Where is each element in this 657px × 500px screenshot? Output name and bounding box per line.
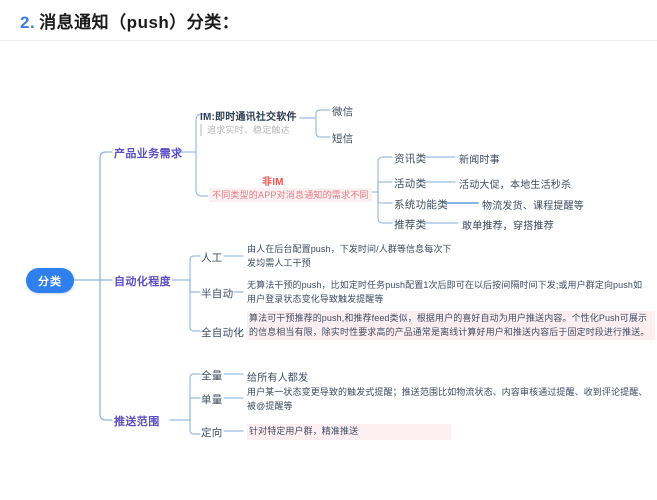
node-nonim-title[interactable]: 非IM xyxy=(262,173,284,188)
leaf-system-function-category[interactable]: 系统功能类 xyxy=(394,197,448,212)
leaf-semi-auto[interactable]: 半自动 xyxy=(201,286,233,301)
mindmap-canvas: 2.消息通知（push）分类： xyxy=(0,0,657,500)
node-im-note: 追求实时、稳定触达 xyxy=(200,124,290,136)
detail-full-auto: 算法可干预推荐的push,和推荐feed类似，根据用户的喜好自动为用户推送内容。… xyxy=(247,311,655,340)
root-node[interactable]: 分类 xyxy=(26,268,74,293)
leaf-activity-category[interactable]: 活动类 xyxy=(394,176,426,191)
leaf-targeted[interactable]: 定向 xyxy=(201,425,223,440)
leaf-full-auto[interactable]: 全自动化 xyxy=(201,325,244,340)
detail-recommend-category: 敢单推荐，穿搭推荐 xyxy=(462,217,554,232)
leaf-sms[interactable]: 短信 xyxy=(332,131,354,146)
detail-news-category: 新闻时事 xyxy=(459,151,500,166)
leaf-manual[interactable]: 人工 xyxy=(201,250,223,265)
branch-automation[interactable]: 自动化程度 xyxy=(114,273,171,289)
detail-manual: 由人在后台配置push，下发时间/人群等信息每次下发均需人工干预 xyxy=(247,243,457,270)
leaf-all-users[interactable]: 全量 xyxy=(201,368,223,383)
detail-single-user: 用户某一状态变更导致的触发式提醒；推送范围比如物流状态、内容审核通过提醒、收到评… xyxy=(247,386,651,413)
leaf-recommend-category[interactable]: 推荐类 xyxy=(394,217,426,232)
node-im-title[interactable]: IM:即时通讯社交软件 xyxy=(200,108,297,123)
node-nonim-note: 不同类型的APP对消息通知的需求不同 xyxy=(209,188,372,202)
leaf-news-category[interactable]: 资讯类 xyxy=(394,151,426,166)
detail-targeted: 针对特定用户群，精准推送 xyxy=(247,424,451,440)
leaf-wechat[interactable]: 微信 xyxy=(332,104,354,119)
detail-all-users: 给所有人都发 xyxy=(247,369,308,384)
detail-semi-auto: 无算法干预的push，比如定时任务push配置1次后即可在以后按间隔时间下发;或… xyxy=(247,279,651,306)
leaf-single-user[interactable]: 单量 xyxy=(201,392,223,407)
detail-system-function-category: 物流发货、课程提醒等 xyxy=(482,197,584,212)
detail-activity-category: 活动大促，本地生活秒杀 xyxy=(459,176,571,191)
branch-product-need[interactable]: 产品业务需求 xyxy=(114,145,182,161)
branch-push-scope[interactable]: 推送范围 xyxy=(114,413,160,429)
